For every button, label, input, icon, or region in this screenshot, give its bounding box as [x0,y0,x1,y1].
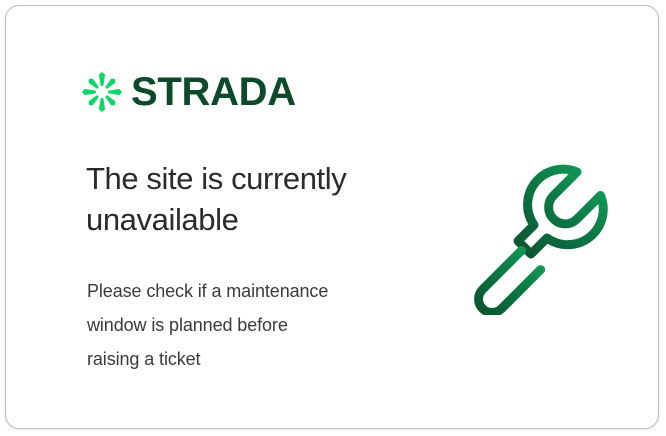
brand-lockup: STRADA [82,72,296,112]
description-line: raising a ticket [87,342,407,376]
error-page: STRADA The site is currently unavailable… [0,0,666,436]
status-card: STRADA The site is currently unavailable… [5,5,659,429]
description-line: Please check if a maintenance [87,274,407,308]
page-title: The site is currently unavailable [86,158,416,240]
brand-wordmark: STRADA [131,72,296,112]
page-description: Please check if a maintenance window is … [87,274,407,376]
strada-asterisk-icon [82,72,122,112]
description-line: window is planned before [87,308,407,342]
